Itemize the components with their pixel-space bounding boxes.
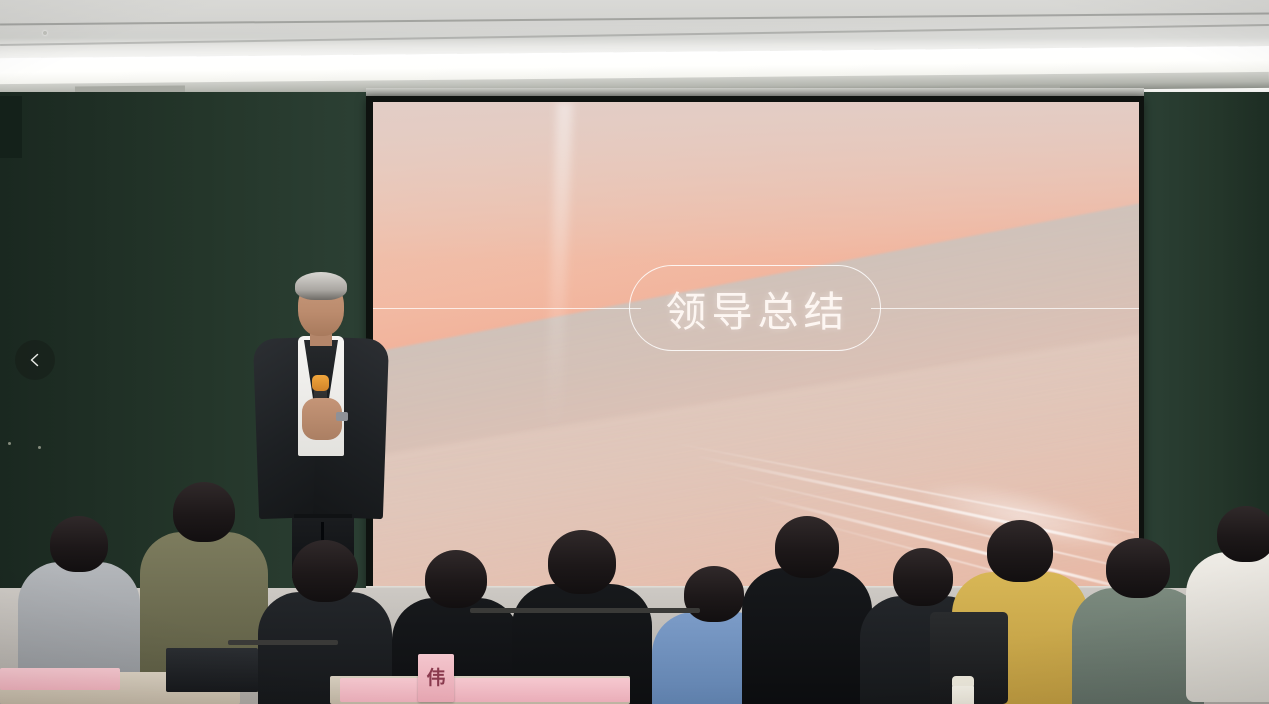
photo-viewer: 领导总结 伟 — [0, 0, 1269, 704]
slide-title: 领导总结 — [661, 278, 850, 338]
namecard-row — [0, 668, 120, 690]
audience-member-head — [50, 516, 108, 572]
audience-member-body — [1072, 588, 1204, 704]
previous-photo-button[interactable] — [15, 340, 55, 380]
ceiling-seam — [0, 12, 1269, 25]
audience-member-head — [548, 530, 616, 594]
presenter-hair — [295, 272, 347, 300]
slide-rule-right — [871, 308, 1139, 309]
audience-member-head — [1106, 538, 1170, 598]
audience-member-head — [173, 482, 235, 542]
audience-member — [742, 516, 872, 704]
audience-member-head — [893, 548, 953, 606]
audience-member-head — [987, 520, 1053, 582]
audience-member — [1186, 506, 1269, 704]
namecard-row — [340, 678, 630, 702]
audience-member-head — [775, 516, 839, 578]
audience-member-body — [1186, 552, 1269, 702]
water-bottle-cap — [952, 676, 974, 686]
chevron-left-icon — [27, 352, 43, 368]
audience-member-head — [1217, 506, 1269, 562]
namecard-text: 伟 — [426, 669, 445, 688]
audience-member-body — [742, 568, 872, 704]
table-edge — [470, 608, 700, 613]
laptop — [166, 648, 258, 692]
audience-member-head — [684, 566, 744, 622]
ceiling-seam — [0, 24, 1269, 46]
namecard: 伟 — [418, 654, 454, 702]
audience-member-head — [292, 540, 358, 602]
slide-rule-left — [373, 308, 641, 309]
audience-member — [1072, 538, 1204, 704]
microphone-head — [312, 375, 329, 391]
audience-member-head — [425, 550, 487, 608]
table-edge — [228, 640, 338, 645]
wall-panel — [0, 96, 22, 158]
slide-title-frame: 领导总结 — [629, 265, 881, 351]
ceiling-fixture-screw — [43, 31, 47, 35]
